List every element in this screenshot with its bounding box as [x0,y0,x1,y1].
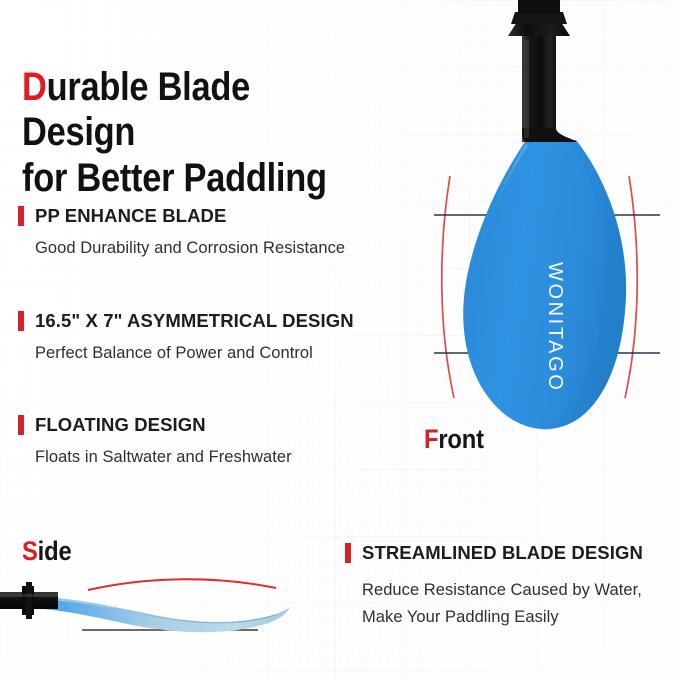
feature-title-row: PP ENHANCE BLADE [18,205,398,227]
paddle-front-view-illustration [398,0,679,470]
feature-title-row: 16.5" X 7" ASYMMETRICAL DESIGN [18,310,398,332]
product-infographic: Durable Blade Design for Better Paddling… [0,0,679,679]
feature-title-text: STREAMLINED BLADE DESIGN [362,542,643,564]
side-label-rest: ide [38,536,72,566]
bullet-bar-icon [18,415,24,435]
feature-item-floating-design: FLOATING DESIGN Floats in Saltwater and … [18,414,398,467]
page-title: Durable Blade Design for Better Paddling [22,65,342,202]
title-drop-cap: D [22,65,47,109]
feature-item-streamlined-blade-design: STREAMLINED BLADE DESIGN Reduce Resistan… [345,542,675,630]
brand-name-on-blade: WONITAGO [543,262,566,392]
bullet-bar-icon [18,311,24,331]
front-view-label: Front [424,424,484,455]
feature-item-pp-enhance-blade: PP ENHANCE BLADE Good Durability and Cor… [18,205,398,258]
title-line-1: urable Blade Design [22,65,250,155]
feature-description: Reduce Resistance Caused by Water, Make … [362,577,675,630]
title-line-2: for Better Paddling [22,156,342,202]
feature-description: Floats in Saltwater and Freshwater [35,448,398,467]
front-label-first-letter: F [424,424,438,454]
side-label-first-letter: S [22,536,38,566]
feature-title-row: STREAMLINED BLADE DESIGN [345,542,675,564]
feature-title-text: PP ENHANCE BLADE [35,205,226,227]
feature-title-text: 16.5" X 7" ASYMMETRICAL DESIGN [35,310,354,332]
feature-description: Good Durability and Corrosion Resistance [35,239,398,258]
front-label-rest: ront [438,424,483,454]
feature-title-text: FLOATING DESIGN [35,414,206,436]
bullet-bar-icon [345,543,351,563]
feature-item-asymmetrical-design: 16.5" X 7" ASYMMETRICAL DESIGN Perfect B… [18,310,398,363]
side-view-label: Side [22,536,71,567]
feature-title-row: FLOATING DESIGN [18,414,398,436]
paddle-side-view-illustration [0,552,320,662]
bullet-bar-icon [18,206,24,226]
feature-description: Perfect Balance of Power and Control [35,344,398,363]
